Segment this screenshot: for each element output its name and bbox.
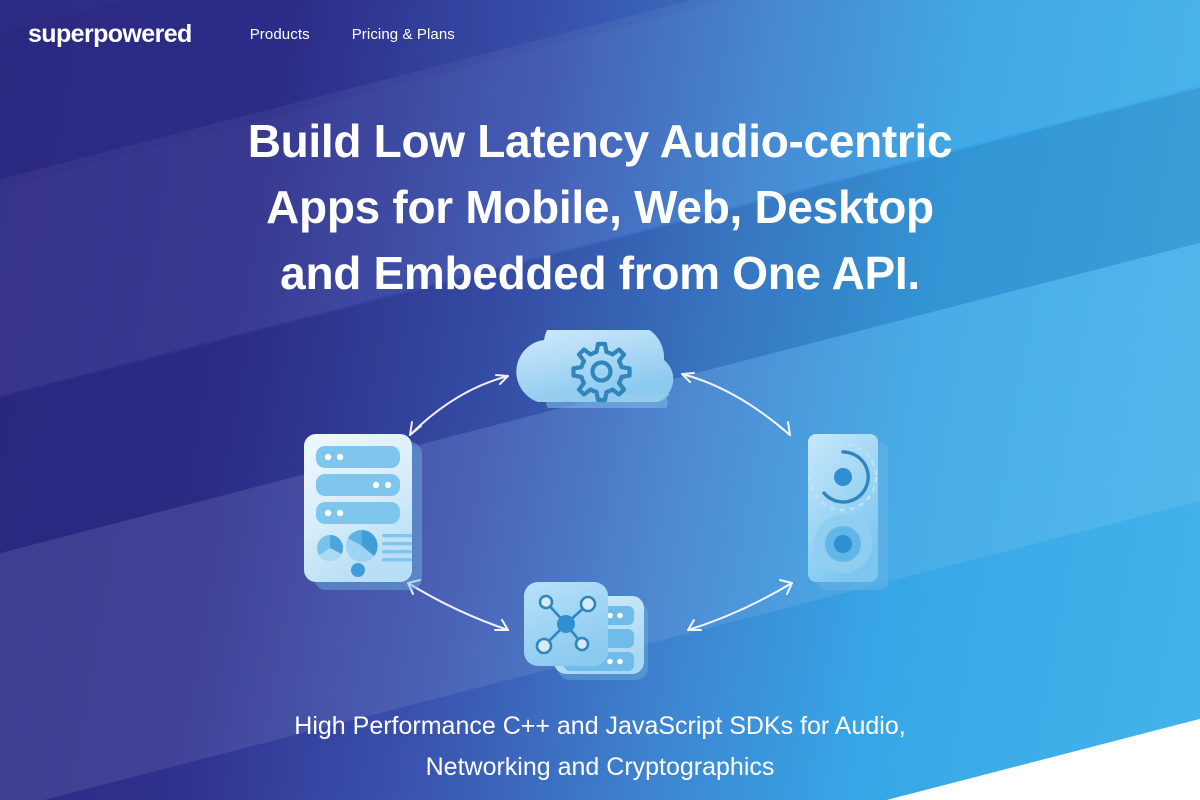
network-servers-icon bbox=[524, 582, 648, 680]
nav-link-pricing-plans[interactable]: Pricing & Plans bbox=[352, 26, 455, 43]
architecture-illustration bbox=[270, 330, 930, 690]
arrow-player-to-network bbox=[688, 580, 792, 630]
hero-headline: Build Low Latency Audio-centric Apps for… bbox=[0, 108, 1200, 306]
headline-line-3: and Embedded from One API. bbox=[0, 240, 1200, 306]
site-header: superpowered Products Pricing & Plans bbox=[0, 0, 1200, 68]
subtitle-line-2: Networking and Cryptographics bbox=[0, 747, 1200, 788]
server-bars bbox=[316, 446, 400, 524]
headline-line-2: Apps for Mobile, Web, Desktop bbox=[0, 174, 1200, 240]
hero-subtitle: High Performance C++ and JavaScript SDKs… bbox=[0, 706, 1200, 788]
pie-chart-small-2 bbox=[346, 530, 378, 562]
arrow-tablet-to-cloud bbox=[410, 375, 508, 435]
media-player-icon bbox=[808, 434, 888, 590]
headline-line-1: Build Low Latency Audio-centric bbox=[0, 108, 1200, 174]
brand-logo[interactable]: superpowered bbox=[28, 20, 192, 49]
player-speaker bbox=[814, 515, 872, 573]
home-button bbox=[351, 563, 365, 577]
hero-page: superpowered Products Pricing & Plans Bu… bbox=[0, 0, 1200, 800]
arrow-cloud-to-player bbox=[682, 373, 790, 435]
network-graph-card bbox=[524, 582, 608, 666]
tablet-dashboard-icon bbox=[304, 434, 422, 590]
cloud-gear-icon bbox=[516, 330, 673, 408]
subtitle-line-1: High Performance C++ and JavaScript SDKs… bbox=[0, 706, 1200, 747]
pie-chart-small-1 bbox=[317, 535, 343, 561]
arrow-network-to-tablet bbox=[408, 580, 508, 630]
nav-link-products[interactable]: Products bbox=[250, 26, 310, 43]
main-nav: Products Pricing & Plans bbox=[250, 26, 497, 43]
